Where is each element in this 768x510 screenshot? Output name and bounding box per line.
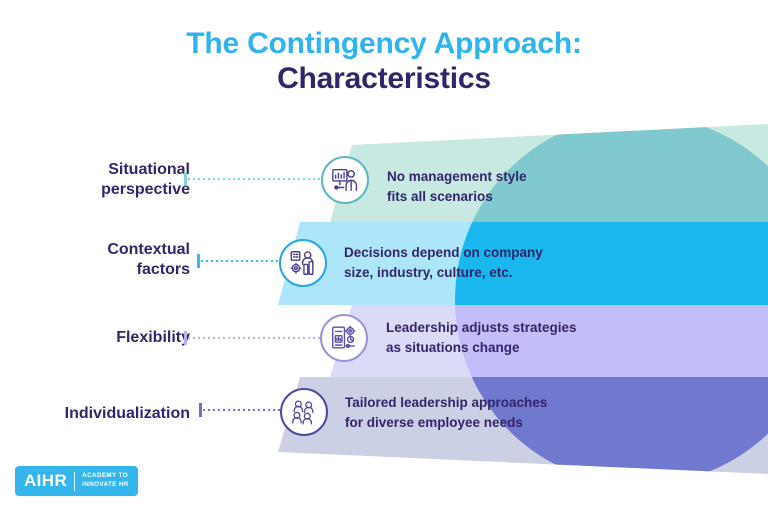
row-label-contextual-factors: Contextual factors [0,240,190,281]
presentation-chart-person-icon [330,165,360,195]
row-label-text: Contextual factors [107,241,190,278]
icon-circle-row-1[interactable] [321,156,369,204]
aihr-logo[interactable]: AIHR ACADEMY TO INNOVATE HR [15,466,138,496]
row-label-flexibility: Flexibility [0,328,190,348]
connector-dots [188,178,330,180]
diverse-people-group-icon [289,397,319,427]
infographic-canvas: The Contingency Approach: Characteristic… [0,0,768,510]
band-text-row-1: No management style fits all scenarios [387,167,527,206]
connector-row-2 [197,254,283,268]
people-gear-company-icon [288,248,318,278]
connector-dots [203,409,285,411]
connector-tick [184,331,187,345]
icon-circle-row-4[interactable] [280,388,328,436]
row-label-text: Flexibility [116,329,190,346]
band-text-row-4: Tailored leadership approaches for diver… [345,393,547,432]
row-label-individualization: Individualization [0,404,190,424]
icon-circle-row-2[interactable] [279,239,327,287]
connector-tick [199,403,202,417]
logo-tagline: ACADEMY TO INNOVATE HR [82,472,129,489]
connector-row-4 [199,403,285,417]
connector-row-3 [184,331,324,345]
connector-row-1 [184,172,330,186]
connector-tick [197,254,200,268]
clipboard-gear-strategy-icon [329,323,359,353]
band-text-row-3: Leadership adjusts strategies as situati… [386,318,577,357]
row-label-text: Situational perspective [101,161,190,198]
connector-dots [188,337,324,339]
row-label-situational-perspective: Situational perspective [0,160,190,201]
icon-circle-row-3[interactable] [320,314,368,362]
logo-wordmark: AIHR [24,471,67,491]
band-text-row-2: Decisions depend on company size, indust… [344,243,543,282]
logo-divider [74,472,75,491]
connector-dots [201,260,283,262]
connector-tick [184,172,187,186]
row-label-text: Individualization [65,405,190,422]
